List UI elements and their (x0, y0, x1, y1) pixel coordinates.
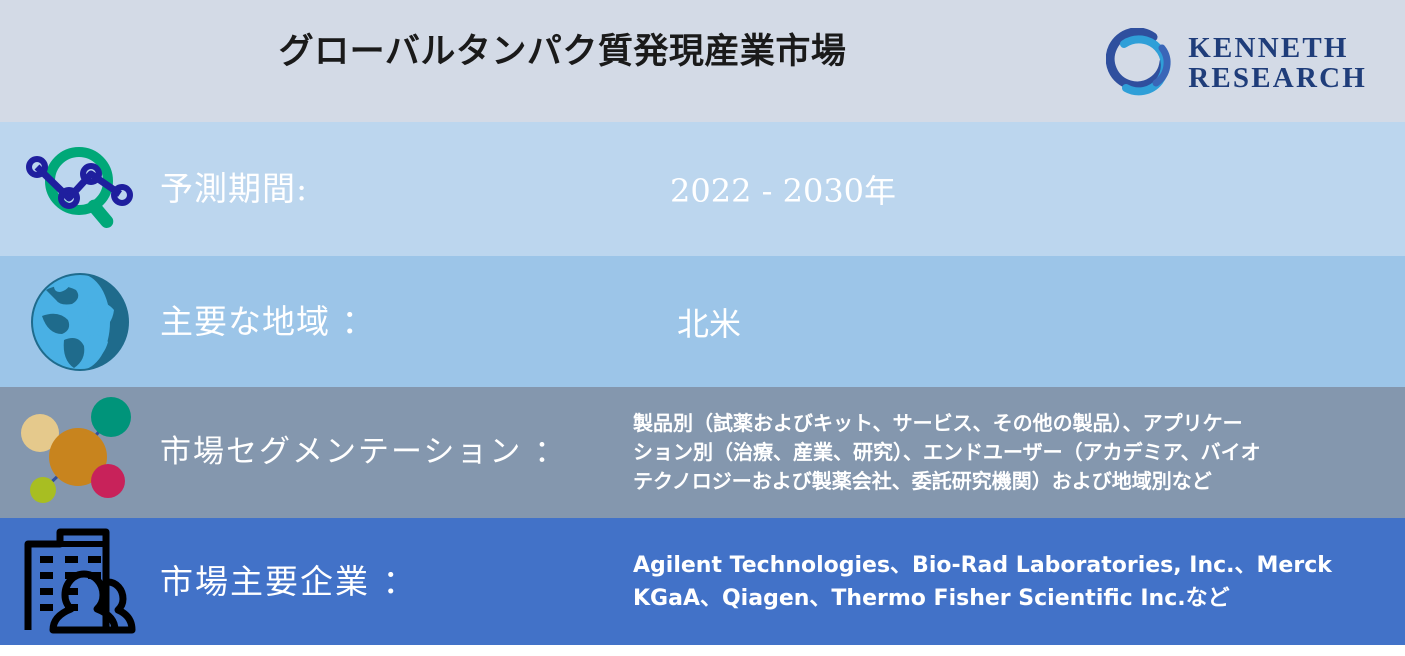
key-market-players-value: Agilent Technologies、Bio-Rad Laboratorie… (615, 549, 1405, 615)
forecast-period-label: 予測期間: (160, 169, 615, 209)
header-banner: グローバルタンパク質発現産業市場 KENNETH RESEARCH (0, 0, 1405, 122)
market-segmentation-label: 市場セグメンテーション ： (160, 434, 615, 471)
building-people-icon (20, 526, 140, 638)
market-report-infographic: グローバルタンパク質発現産業市場 KENNETH RESEARCH (0, 0, 1405, 656)
key-region-value: 北米 (615, 299, 1405, 345)
logo-line-2: RESEARCH (1188, 63, 1367, 93)
row-forecast-period: 予測期間: 2022 - 2030年 (0, 122, 1405, 256)
players-line-2: KGaA、Qiagen、Thermo Fisher Scientific Inc… (633, 582, 1335, 615)
market-segmentation-value: 製品別（試薬およびキット、サービス、その他の製品）、アプリケー ション別（治療、… (615, 409, 1405, 496)
segmentation-line-3: テクノロジーおよび製薬会社、委託研究機関）および地域別など (633, 467, 1343, 496)
kenneth-research-swirl-icon (1106, 28, 1176, 98)
logo-wordmark: KENNETH RESEARCH (1188, 33, 1367, 94)
segmentation-line-1: 製品別（試薬およびキット、サービス、その他の製品）、アプリケー (633, 409, 1343, 438)
magnifier-chart-icon (21, 143, 139, 235)
row-market-segmentation: 市場セグメンテーション ： 製品別（試薬およびキット、サービス、その他の製品）、… (0, 387, 1405, 518)
logo-line-1: KENNETH (1188, 33, 1367, 63)
key-market-players-label: 市場主要企業 ： (160, 562, 615, 602)
molecule-network-icon (16, 397, 144, 509)
region-icon-cell (0, 270, 160, 374)
key-region-label: 主要な地域 ： (160, 302, 615, 342)
brand-logo: KENNETH RESEARCH (1106, 28, 1367, 98)
row-key-market-players: 市場主要企業 ： Agilent Technologies、Bio-Rad La… (0, 518, 1405, 645)
segmentation-line-2: ション別（治療、産業、研究）、エンドユーザー（アカデミア、バイオ (633, 438, 1343, 467)
forecast-period-value: 2022 - 2030年 (615, 166, 1405, 212)
players-line-1: Agilent Technologies、Bio-Rad Laboratorie… (633, 549, 1335, 582)
forecast-icon-cell (0, 143, 160, 235)
segmentation-icon-cell (0, 397, 160, 509)
players-icon-cell (0, 526, 160, 638)
globe-icon (28, 270, 132, 374)
row-key-region: 主要な地域 ： 北米 (0, 256, 1405, 387)
